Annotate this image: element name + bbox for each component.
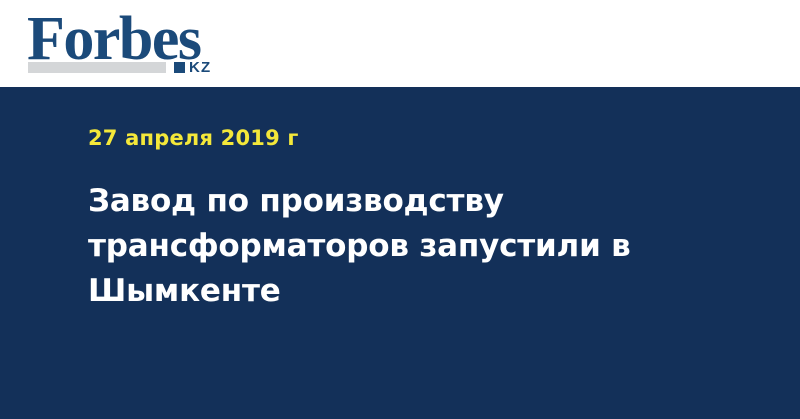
logo-kz-suffix: KZ <box>189 60 211 75</box>
forbes-wordmark: Forbes <box>27 8 201 70</box>
article-headline: Завод по производству трансформаторов за… <box>88 179 688 314</box>
logo-square-icon <box>174 62 185 73</box>
headline-line: трансформаторов запустили в <box>88 224 688 269</box>
article-hero-page: Forbes KZ 27 апреля 2019 г Завод по прои… <box>0 0 800 419</box>
forbes-kz-logo[interactable]: Forbes KZ <box>27 12 232 76</box>
publication-date: 27 апреля 2019 г <box>88 125 299 151</box>
hero-banner: 27 апреля 2019 г Завод по производству т… <box>0 87 800 419</box>
site-header: Forbes KZ <box>0 0 800 87</box>
headline-line: Завод по производству <box>88 179 688 224</box>
headline-line: Шымкенте <box>88 269 688 314</box>
logo-rule-bar <box>28 62 166 73</box>
